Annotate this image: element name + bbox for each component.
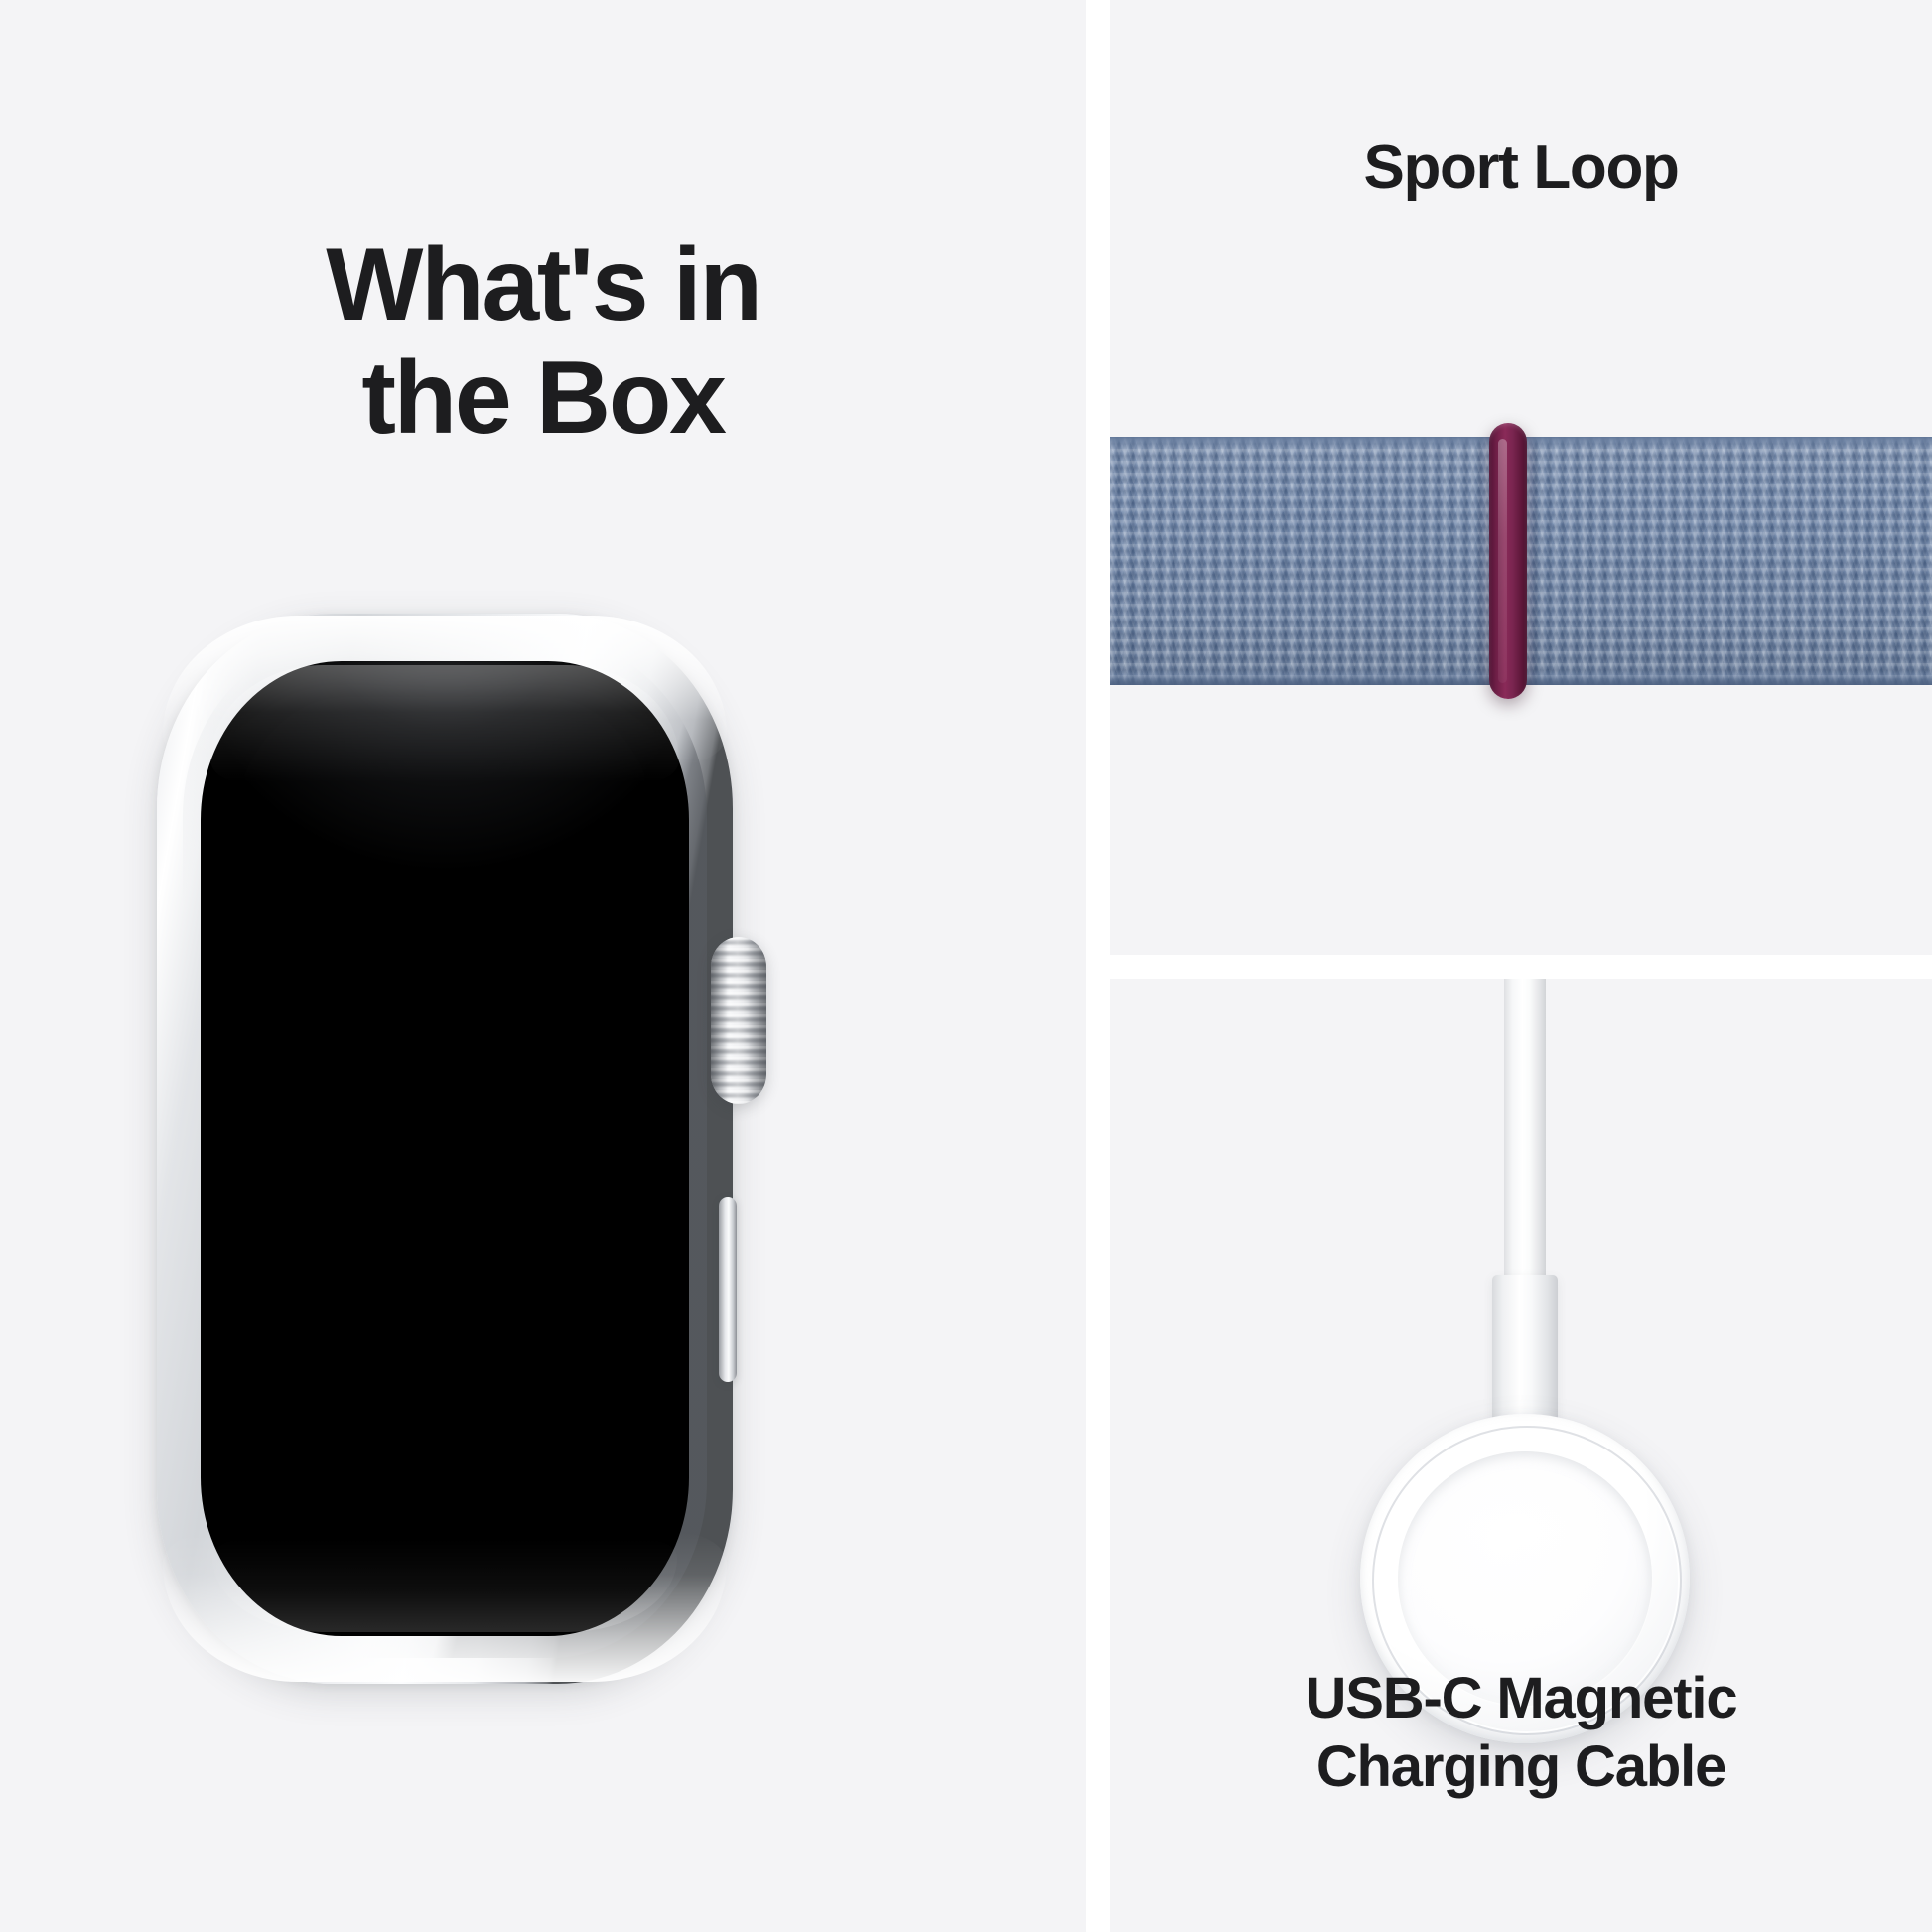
- charging-puck-highlight: [1442, 1485, 1590, 1577]
- panel-sport-loop: Sport Loop: [1110, 0, 1932, 955]
- apple-watch-product-image: [157, 614, 892, 1686]
- watch-display[interactable]: [201, 661, 689, 1636]
- charging-cable-cord: [1504, 979, 1546, 1283]
- sport-loop-headline: Sport Loop: [1110, 134, 1932, 202]
- digital-crown[interactable]: [711, 937, 766, 1104]
- panel-charging-cable: USB-C Magnetic Charging Cable: [1110, 979, 1932, 1932]
- charging-cable-caption: USB-C Magnetic Charging Cable: [1110, 1665, 1932, 1801]
- digital-crown-shading: [711, 937, 766, 1104]
- side-button[interactable]: [719, 1197, 737, 1382]
- band-keeper-loop: [1489, 423, 1527, 699]
- whats-in-the-box-headline: What's in the Box: [0, 228, 1086, 456]
- band-keeper-highlight: [1498, 439, 1507, 683]
- whats-in-the-box-board: What's in the Box Sport Loop: [0, 0, 1932, 1932]
- display-glare-bottom: [212, 1539, 677, 1632]
- panel-apple-watch: What's in the Box: [0, 0, 1086, 1932]
- display-glare-top: [210, 665, 679, 782]
- watch-case: [157, 614, 733, 1684]
